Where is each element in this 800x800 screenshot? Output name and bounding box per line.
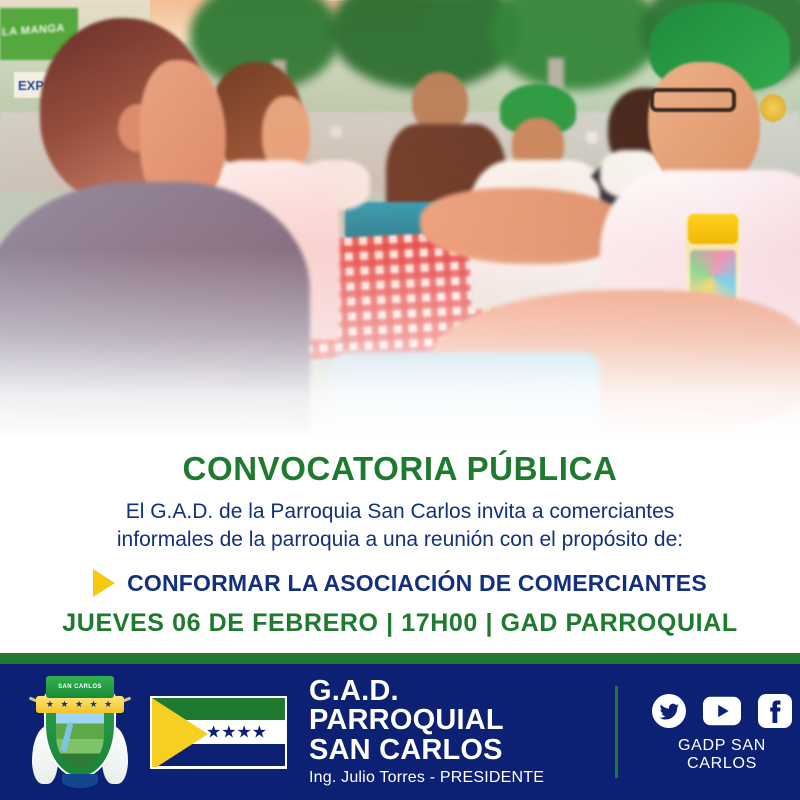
event-dateline: JUEVES 06 DE FEBRERO | 17H00 | GAD PARRO… [0, 609, 800, 638]
social-icon-row [644, 692, 800, 730]
event-photo: LA MANGA EXPO [0, 0, 800, 440]
crest-top-label: SAN CARLOS [58, 684, 102, 690]
organization-titles: G.A.D. PARROQUIAL SAN CARLOS Ing. Julio … [309, 677, 589, 788]
org-title-line-2: SAN CARLOS [309, 736, 589, 766]
youtube-icon[interactable] [703, 692, 741, 730]
footer-vertical-divider [615, 686, 618, 778]
flag-yellow-triangle [152, 698, 208, 769]
photo-scene: LA MANGA EXPO [0, 0, 800, 440]
crest-base [62, 774, 98, 788]
triangle-bullet-icon [93, 569, 115, 597]
org-president-label: Ing. Julio Torres - PRESIDENTE [309, 769, 589, 787]
callout-text: CONFORMAR LA ASOCIACIÓN DE COMERCIANTES [127, 570, 707, 597]
facebook-icon[interactable] [756, 692, 794, 730]
announcement-content: CONVOCATORIA PÚBLICA El G.A.D. de la Par… [0, 440, 800, 653]
callout-row: CONFORMAR LA ASOCIACIÓN DE COMERCIANTES [0, 569, 800, 597]
social-media-block: GADP SAN CARLOS [644, 692, 800, 773]
footer-bar: ★ ★ ★ ★ ★ SAN CARLOS ★★★★ G.A.D. PARROQU… [0, 664, 800, 800]
page-title: CONVOCATORIA PÚBLICA [0, 450, 800, 488]
flag-stars: ★★★★ [206, 724, 267, 741]
subtitle-line-1: El G.A.D. de la Parroquia San Carlos inv… [38, 498, 762, 526]
green-divider-stripe [0, 653, 800, 664]
crest-top-banner: SAN CARLOS [46, 676, 114, 698]
org-title-line-1: G.A.D. PARROQUIAL [309, 677, 589, 736]
coat-of-arms-icon: ★ ★ ★ ★ ★ SAN CARLOS [32, 674, 128, 790]
crest-star-ribbon: ★ ★ ★ ★ ★ [36, 696, 124, 713]
crest-stars: ★ ★ ★ ★ ★ [46, 699, 114, 710]
subtitle-text: El G.A.D. de la Parroquia San Carlos inv… [0, 498, 800, 553]
twitter-icon[interactable] [650, 692, 688, 730]
subtitle-line-2: informales de la parroquia a una reunión… [38, 526, 762, 554]
parish-flag-icon: ★★★★ [150, 696, 287, 769]
poster: LA MANGA EXPO [0, 0, 800, 800]
photo-white-fade [0, 250, 800, 440]
social-handle: GADP SAN CARLOS [644, 737, 800, 773]
